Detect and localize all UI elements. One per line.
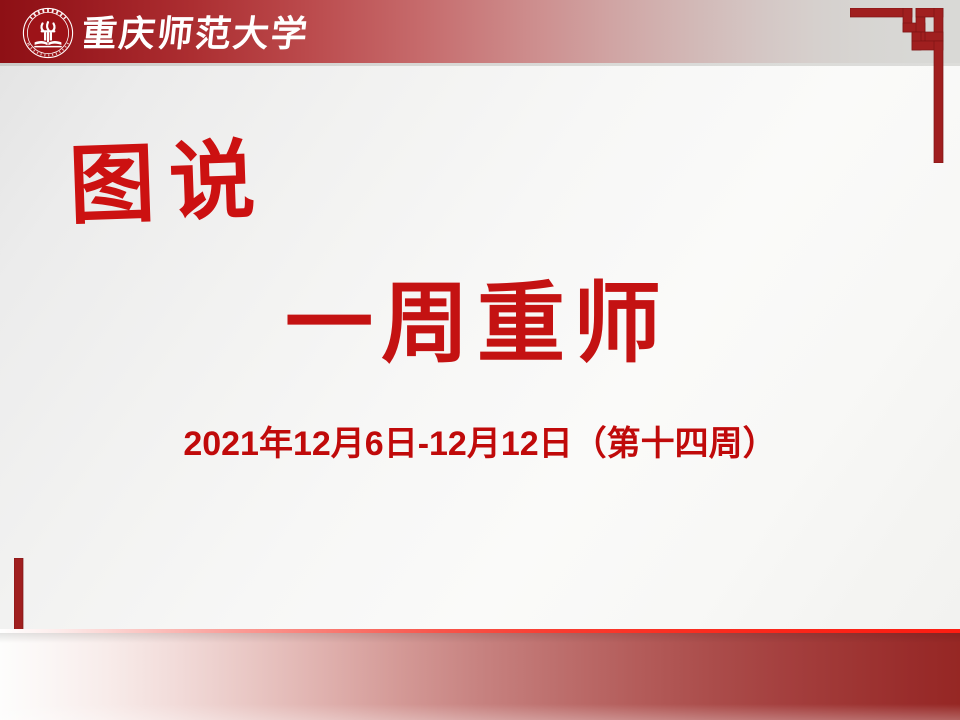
footer-band-top-shadow: [0, 633, 960, 643]
footer-band-bottom-highlight: [0, 704, 960, 720]
date-range-label: 2021年12月6日-12月12日（第十四周）: [0, 416, 960, 465]
university-seal-icon: [22, 7, 74, 59]
university-name-text: 重庆师范大学: [84, 13, 311, 55]
corner-ornament-top-right: [850, 8, 955, 163]
slide-canvas: 重庆师范大学: [0, 0, 960, 720]
title-line-2-text: 一周重师: [285, 272, 669, 375]
university-name: 重庆师范大学: [84, 6, 334, 58]
title-line-1-text: 图说: [70, 130, 271, 237]
header-underline: [0, 63, 960, 66]
title-line-1: 图说: [70, 124, 300, 244]
title-line-2: 一周重师: [285, 258, 685, 383]
